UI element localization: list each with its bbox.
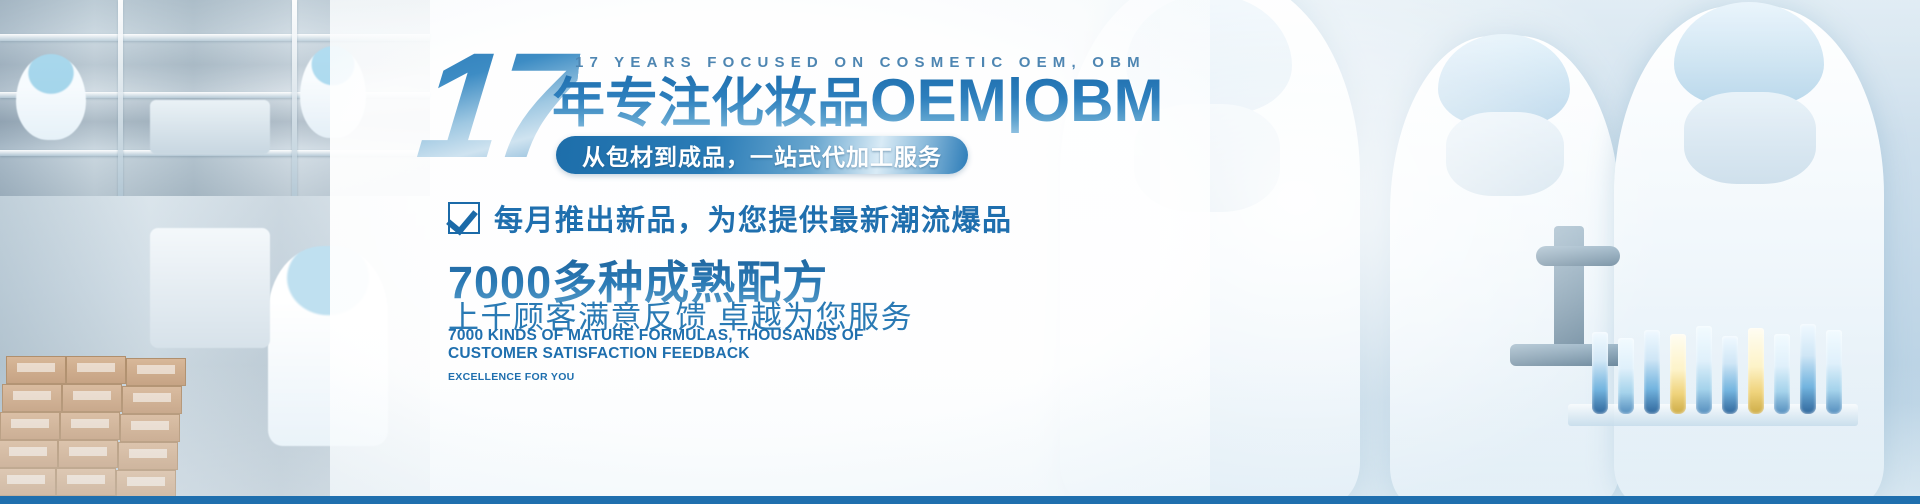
headline-brand: OEM|OBM (870, 67, 1163, 134)
english-description-line3: EXCELLENCE FOR YOU (448, 369, 864, 385)
checkmark-icon (448, 202, 480, 234)
service-ribbon-label: 从包材到成品，一站式代加工服务 (582, 138, 942, 172)
english-description-line2: CUSTOMER SATISFACTION FEEDBACK (448, 345, 864, 363)
bottom-accent-strip (0, 496, 1920, 504)
feature-checkline: 每月推出新品，为您提供最新潮流爆品 (448, 197, 1013, 239)
headline: 年专注化妆品OEM|OBM (552, 72, 1163, 133)
promo-banner: 17 17 YEARS FOCUSED ON COSMETIC OEM, OBM… (0, 0, 1920, 504)
feature-checkline-label: 每月推出新品，为您提供最新潮流爆品 (494, 197, 1013, 239)
banner-content: 17 17 YEARS FOCUSED ON COSMETIC OEM, OBM… (0, 0, 1920, 504)
english-description: 7000 KINDS OF MATURE FORMULAS, THOUSANDS… (448, 327, 864, 385)
headline-chinese: 年专注化妆品 (552, 74, 870, 133)
service-ribbon: 从包材到成品，一站式代加工服务 (556, 136, 968, 174)
english-description-line1: 7000 KINDS OF MATURE FORMULAS, THOUSANDS… (448, 327, 864, 345)
